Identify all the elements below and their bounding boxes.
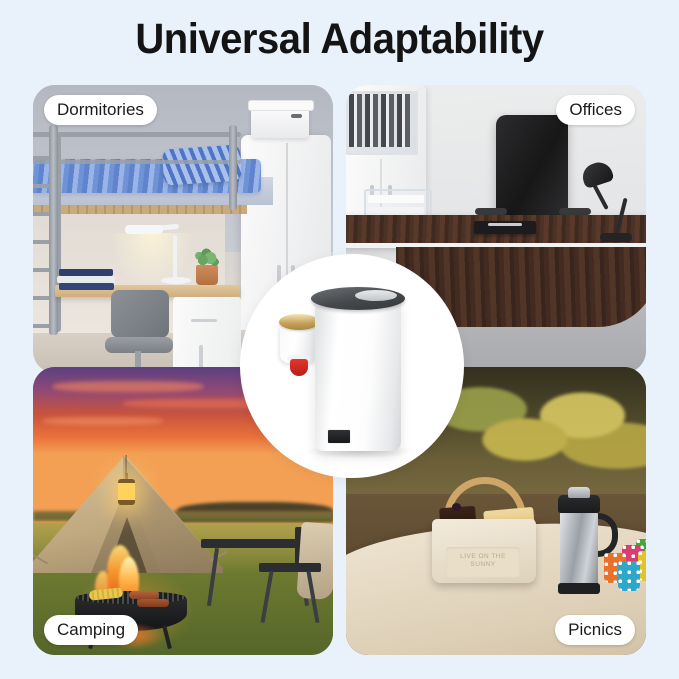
basket-text: LIVE ON THE SUNNY <box>450 553 516 569</box>
desk-drawers <box>173 297 241 373</box>
product-feature-graphic: Universal Adaptability <box>0 0 679 679</box>
sausage <box>137 599 169 607</box>
sunlit-bush <box>436 373 646 494</box>
lid-highlight <box>355 290 397 301</box>
bed-rail <box>33 132 241 137</box>
desk-lamp-base <box>161 277 191 284</box>
chair-armrest <box>559 208 591 215</box>
portable-water-dispenser <box>243 257 461 475</box>
bed-post <box>229 125 237 210</box>
thermos-cap <box>568 487 590 498</box>
folding-chair-seat <box>259 563 321 572</box>
book <box>57 276 115 283</box>
label-camping: Camping <box>44 615 138 645</box>
draped-jacket <box>296 522 333 600</box>
pen <box>488 223 522 226</box>
bin-handle <box>291 114 302 118</box>
page-title: Universal Adaptability <box>24 14 655 64</box>
book <box>59 283 114 290</box>
thermos-body <box>560 509 598 589</box>
polka-dot-cup <box>618 561 640 591</box>
desk-lamp-head <box>125 225 163 234</box>
book <box>59 269 113 276</box>
desk-lamp-base <box>600 233 632 242</box>
product-spotlight-circle <box>243 257 461 475</box>
binders <box>349 94 411 147</box>
label-offices: Offices <box>556 95 635 125</box>
chair-armrest <box>475 208 507 215</box>
thermos-base <box>558 583 600 594</box>
control-panel[interactable] <box>327 429 351 444</box>
desk-chair-back <box>111 290 169 338</box>
cloud <box>53 381 203 392</box>
blackberry <box>452 503 461 511</box>
paper-stack <box>368 207 424 215</box>
bed-post <box>49 125 58 335</box>
succulent-plant <box>193 247 221 269</box>
label-dormitories: Dormitories <box>44 95 157 125</box>
bed-rail <box>33 160 241 164</box>
storage-bin <box>251 105 309 138</box>
desk-lamp-stem <box>173 235 177 281</box>
paper-stack <box>368 195 424 203</box>
label-picnics: Picnics <box>555 615 635 645</box>
spout-gold-cap <box>279 314 319 330</box>
camping-lantern <box>118 479 135 505</box>
sausage <box>129 591 159 599</box>
drawer-handle <box>191 319 217 322</box>
cloud <box>43 417 163 425</box>
spout-red-nozzle <box>290 359 308 376</box>
bin-lid <box>248 100 314 111</box>
office-chair-back <box>496 115 568 220</box>
